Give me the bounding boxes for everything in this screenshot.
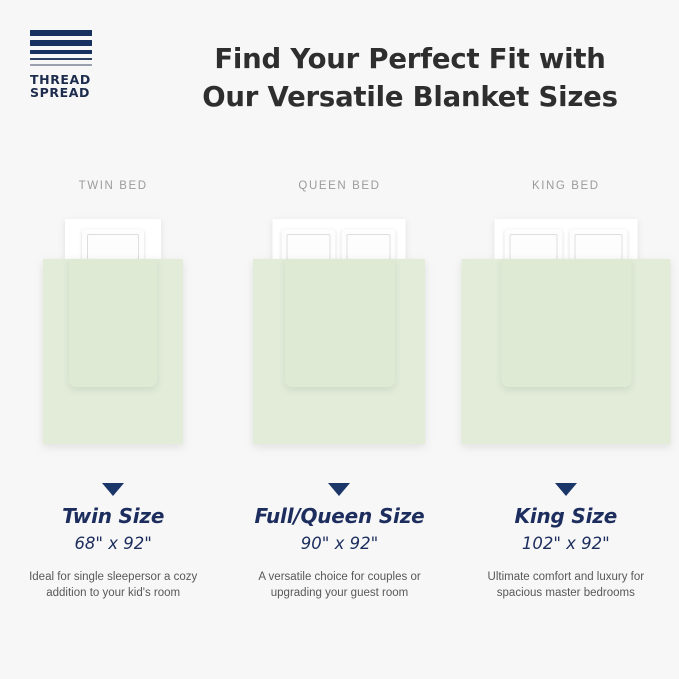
header: THREAD SPREAD Find Your Perfect Fit with… [0,0,679,150]
caption-queen: Full/Queen Size 90" x 92" A versatile ch… [226,483,452,601]
pointer-triangle-icon [328,483,350,496]
pointer-triangle-icon [102,483,124,496]
logo-bar-2 [30,40,92,46]
page-title-line1: Find Your Perfect Fit with [160,40,660,78]
pointer-triangle-icon [555,483,577,496]
size-comparison-columns: TWIN BED Twin Size 68" x 92" Ideal for s… [0,180,679,601]
size-column-queen: QUEEN BED Full/Queen Size 90" x 92" A ve… [226,180,452,601]
size-name-king: King Size [453,504,679,529]
logo-bar-1 [30,30,92,36]
size-dimensions-twin: 68" x 92" [0,533,226,554]
brand-logo: THREAD SPREAD [30,30,102,100]
size-dimensions-queen: 90" x 92" [226,533,452,554]
size-column-twin: TWIN BED Twin Size 68" x 92" Ideal for s… [0,180,226,601]
blanket-outer-king [461,259,670,444]
size-description-queen: A versatile choice for couples or upgrad… [226,569,452,601]
page-title: Find Your Perfect Fit with Our Versatile… [160,40,660,116]
caption-king: King Size 102" x 92" Ultimate comfort an… [453,483,679,601]
size-name-twin: Twin Size [0,504,226,529]
column-header-twin: TWIN BED [79,180,148,200]
brand-name: THREAD SPREAD [30,73,102,100]
bed-illustration-twin [0,217,226,477]
column-header-queen: QUEEN BED [298,180,380,200]
bed-illustration-king [453,217,679,477]
logo-bar-3 [30,50,92,54]
caption-twin: Twin Size 68" x 92" Ideal for single sle… [0,483,226,601]
brand-name-line1: THREAD [30,73,102,87]
size-column-king: KING BED King Size 102" x 92" Ultimate c… [453,180,679,601]
column-header-king: KING BED [532,180,600,200]
infographic-page: THREAD SPREAD Find Your Perfect Fit with… [0,0,679,679]
bed-illustration-queen [226,217,452,477]
blanket-inner-king [501,259,631,387]
blanket-inner-queen [285,259,395,387]
logo-bar-5 [30,64,92,66]
logo-bar-4 [30,58,92,60]
size-dimensions-king: 102" x 92" [453,533,679,554]
logo-bars-icon [30,30,92,66]
brand-name-line2: SPREAD [30,86,102,100]
page-title-line2: Our Versatile Blanket Sizes [160,78,660,116]
blanket-outer-queen [253,259,425,444]
blanket-outer-twin [43,259,183,444]
size-description-king: Ultimate comfort and luxury for spacious… [453,569,679,601]
size-name-queen: Full/Queen Size [226,504,452,529]
blanket-inner-twin [69,259,157,387]
size-description-twin: Ideal for single sleepersor a cozy addit… [0,569,226,601]
